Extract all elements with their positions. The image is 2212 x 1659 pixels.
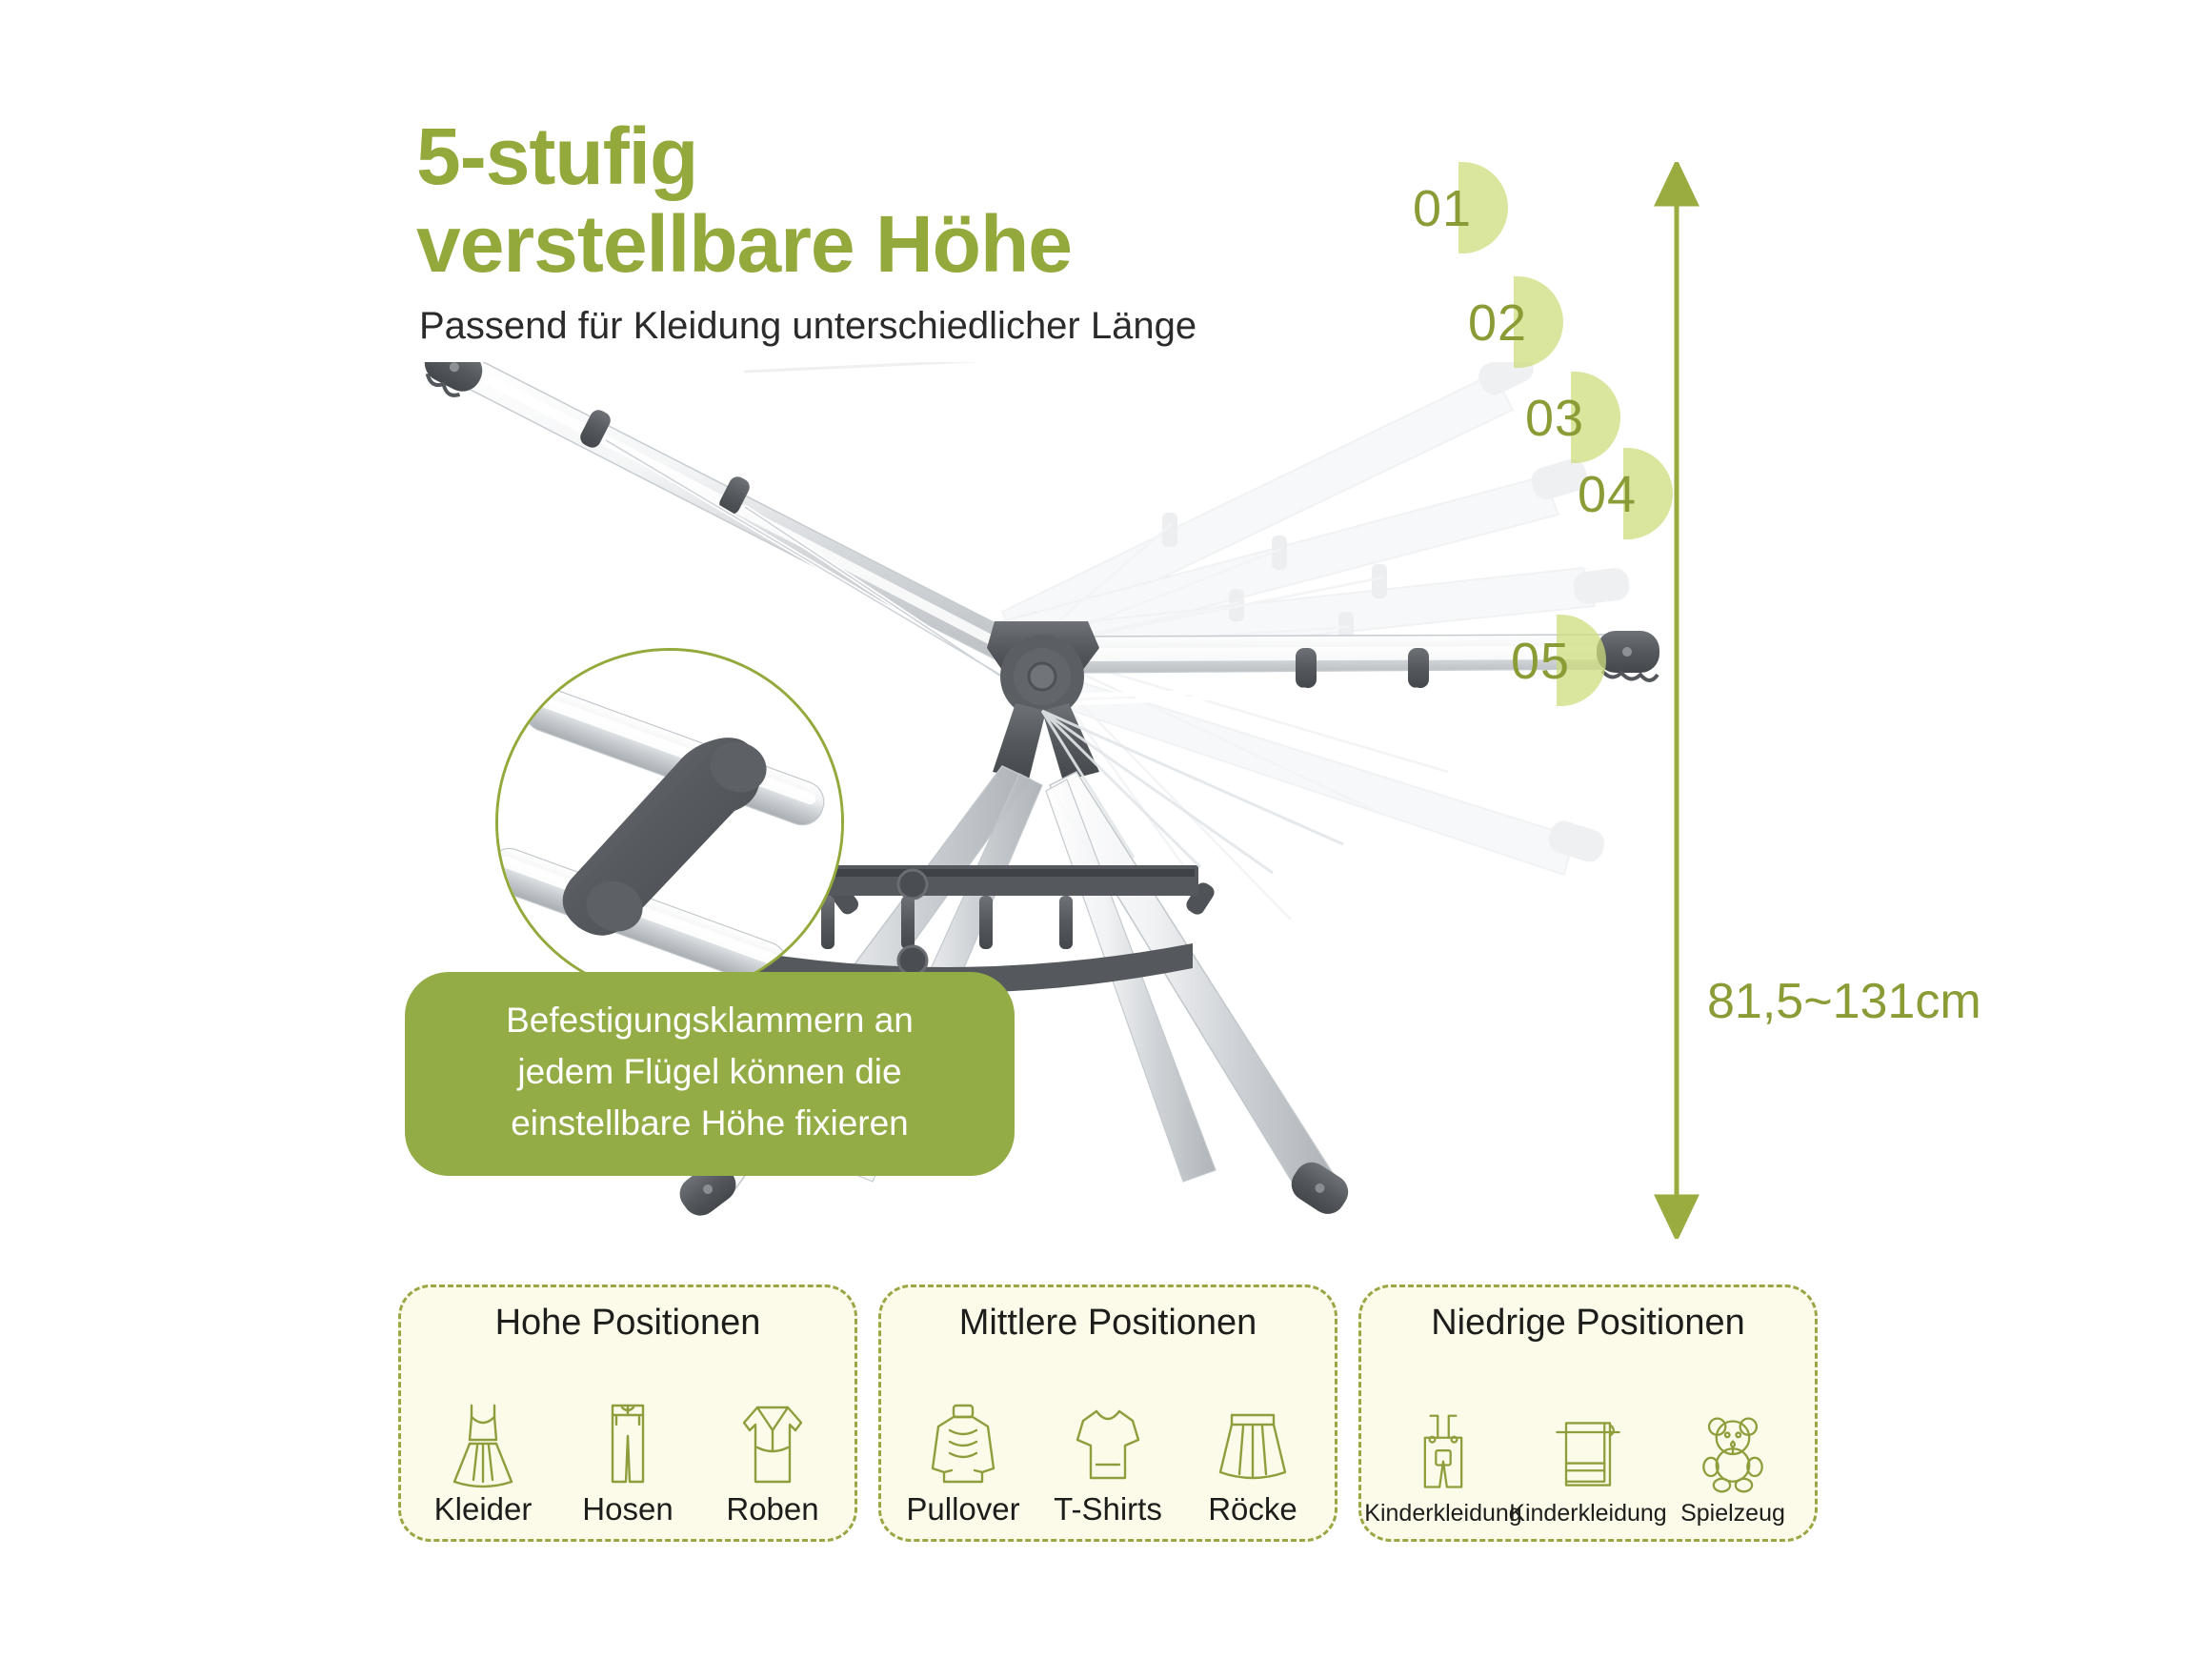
infographic-canvas: 5-stufig verstellbare Höhe Passend für K… — [0, 0, 2212, 1659]
clamp-detail-magnifier — [495, 648, 844, 997]
skirt-icon — [1212, 1398, 1294, 1489]
tshirt-icon — [1067, 1398, 1149, 1489]
card-title: Hohe Positionen — [495, 1303, 761, 1344]
towel-icon — [1547, 1410, 1629, 1498]
position-category-cards: Hohe Positionen Kleid — [398, 1285, 1818, 1542]
callout-line-2: jedem Flügel können die — [433, 1046, 986, 1098]
sweater-icon — [922, 1398, 1004, 1489]
card-item: Spielzeug — [1660, 1410, 1805, 1527]
card-item-label: Kinderkleidung — [1364, 1500, 1521, 1527]
position-label: 01 — [1413, 179, 1512, 238]
card-item: Hosen — [555, 1398, 700, 1527]
card-item-label: Röcke — [1208, 1491, 1297, 1527]
card-item: Kinderkleidung — [1516, 1410, 1660, 1527]
card-title: Mittlere Positionen — [959, 1303, 1257, 1344]
position-badge-01: 01 — [1417, 162, 1508, 253]
title-line-1: 5-stufig — [416, 112, 1369, 200]
page-title: 5-stufig verstellbare Höhe — [416, 112, 1369, 288]
card-item: Kinderkleidung — [1371, 1410, 1516, 1527]
height-label: 81,5~131cm — [1694, 967, 1995, 1036]
card-item: T-Shirts — [1036, 1398, 1180, 1527]
clamp-callout: Befestigungsklammern an jedem Flügel kön… — [405, 972, 1015, 1176]
overalls-icon — [1402, 1410, 1484, 1498]
position-label: 02 — [1468, 293, 1567, 353]
callout-line-1: Befestigungsklammern an — [433, 995, 986, 1046]
dress-icon — [442, 1398, 524, 1489]
card-item-list: Pullover T-Shirts — [891, 1347, 1325, 1527]
callout-line-3: einstellbare Höhe fixieren — [433, 1098, 986, 1149]
card-item-list: Kleider Hosen — [411, 1347, 845, 1527]
card-item-label: Roben — [726, 1491, 818, 1527]
card-niedrige-positionen: Niedrige Positionen Kinderkleidung — [1358, 1285, 1818, 1542]
card-item-label: T-Shirts — [1054, 1491, 1162, 1527]
card-item-label: Kleider — [434, 1491, 533, 1527]
card-item: Röcke — [1180, 1398, 1325, 1527]
card-mittlere-positionen: Mittlere Positionen Pullover — [878, 1285, 1337, 1542]
card-title: Niedrige Positionen — [1431, 1303, 1745, 1344]
card-item-label: Spielzeug — [1680, 1500, 1785, 1527]
card-item: Roben — [700, 1398, 845, 1527]
card-item-label: Pullover — [906, 1491, 1019, 1527]
pants-icon — [587, 1398, 669, 1489]
card-item: Pullover — [891, 1398, 1036, 1527]
card-item: Kleider — [411, 1398, 555, 1527]
robe-icon — [732, 1398, 814, 1489]
title-line-2: verstellbare Höhe — [416, 200, 1369, 288]
card-item-list: Kinderkleidung Kinderkleidung — [1371, 1347, 1805, 1527]
card-item-label: Hosen — [582, 1491, 673, 1527]
position-badge-05: 05 — [1515, 615, 1606, 706]
position-label: 05 — [1511, 632, 1610, 691]
position-badge-02: 02 — [1472, 276, 1563, 368]
card-item-label: Kinderkleidung — [1509, 1500, 1666, 1527]
page-subtitle: Passend für Kleidung unterschiedlicher L… — [419, 305, 1196, 348]
card-hohe-positionen: Hohe Positionen Kleid — [398, 1285, 857, 1542]
teddy-bear-icon — [1692, 1410, 1774, 1498]
height-dimension: 81,5~131cm — [1610, 162, 1953, 1239]
